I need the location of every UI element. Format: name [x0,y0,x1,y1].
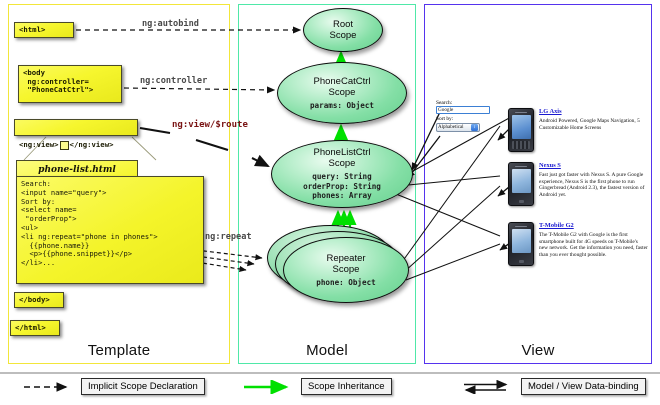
scope-phonelistctrl: PhoneListCtrl Scope query: String orderP… [271,140,413,208]
scope-phonelistctrl-props: query: String orderProp: String phones: … [303,172,381,200]
phone-snippet: Android Powered, Google Maps Navigation,… [539,118,648,131]
scope-repeater: Repeater Scope phone: Object [283,237,409,303]
sort-select[interactable]: Alphabetical ↕ [436,123,480,132]
column-label-model: Model [239,342,415,359]
scope-root: Root Scope [303,8,383,52]
scope-root-title-2: Scope [330,30,357,41]
double-arrow-icon [462,380,514,394]
scope-phonecatctrl-props: params: Object [310,101,374,110]
edge-label-ng-view-route: ng:view/$route [172,120,248,130]
tag-ngview-close: </ng:view> [70,141,114,150]
edge-label-ng-repeat: ng:repeat [205,232,252,242]
phone-name-link[interactable]: LG Axis [539,108,648,116]
scope-phonecatctrl-title-1: PhoneCatCtrl [313,76,370,87]
scope-repeater-props: phone: Object [316,278,375,287]
phone-list-item[interactable]: LG Axis Android Powered, Google Maps Nav… [508,108,648,152]
column-label-template: Template [9,342,229,359]
legend: Implicit Scope Declaration Scope Inherit… [0,372,660,405]
phone-list-item[interactable]: T-Mobile G2 The T-Mobile G2 with Google … [508,222,648,266]
ngview-placeholder-icon [60,141,69,150]
solid-arrow-icon [242,380,294,394]
scope-phonecatctrl: PhoneCatCtrl Scope params: Object [277,62,407,124]
phone-snippet: Fast just got faster with Nexus S. A pur… [539,172,648,198]
tag-html-close: </html> [10,320,60,336]
tag-ngview-open: <ng:view> [19,141,59,150]
scope-repeater-title-2: Scope [326,264,365,275]
search-input[interactable]: Google [436,106,490,114]
sort-select-value: Alphabetical [438,125,464,130]
phone-thumbnail-icon [508,222,534,266]
tag-html-open: <html> [14,22,74,38]
scope-phonecatctrl-title-2: Scope [313,87,370,98]
legend-label: Scope Inheritance [301,378,392,395]
edge-label-ng-controller: ng:controller [140,76,207,86]
phone-name-link[interactable]: T-Mobile G2 [539,222,648,230]
sort-label: Sort by: [436,116,492,122]
tag-body-open: <body ng:controller= "PhoneCatCtrl"> [18,65,122,103]
view-search-form: Search: Google Sort by: Alphabetical ↕ [436,100,492,132]
legend-item-scope-inheritance: Scope Inheritance [242,378,392,395]
template-note-phone-list: phone-list.html Search: <input name="que… [16,160,208,284]
phone-name-link[interactable]: Nexus S [539,162,648,170]
scope-root-title-1: Root [330,19,357,30]
legend-divider [0,372,660,374]
note-code: Search: <input name="query"> Sort by: <s… [16,176,204,284]
tag-body-close: </body> [14,292,64,308]
scope-phonelistctrl-title-2: Scope [313,158,370,169]
legend-item-data-binding: Model / View Data-binding [462,378,646,395]
legend-item-implicit-scope-declaration: Implicit Scope Declaration [22,378,205,395]
tag-ngview: <ng:view> </ng:view> [14,119,138,136]
scope-repeater-title-1: Repeater [326,253,365,264]
phone-thumbnail-icon [508,108,534,152]
chevron-updown-icon: ↕ [471,124,478,131]
phone-snippet: The T-Mobile G2 with Google is the first… [539,232,648,258]
phone-thumbnail-icon [508,162,534,206]
edge-label-ng-autobind: ng:autobind [142,19,199,29]
dashed-arrow-icon [22,380,74,394]
scope-phonelistctrl-title-1: PhoneListCtrl [313,147,370,158]
diagram-canvas: Template Model View [0,0,660,405]
legend-label: Model / View Data-binding [521,378,646,395]
column-label-view: View [425,342,651,359]
phone-list-item[interactable]: Nexus S Fast just got faster with Nexus … [508,162,648,206]
legend-label: Implicit Scope Declaration [81,378,205,395]
